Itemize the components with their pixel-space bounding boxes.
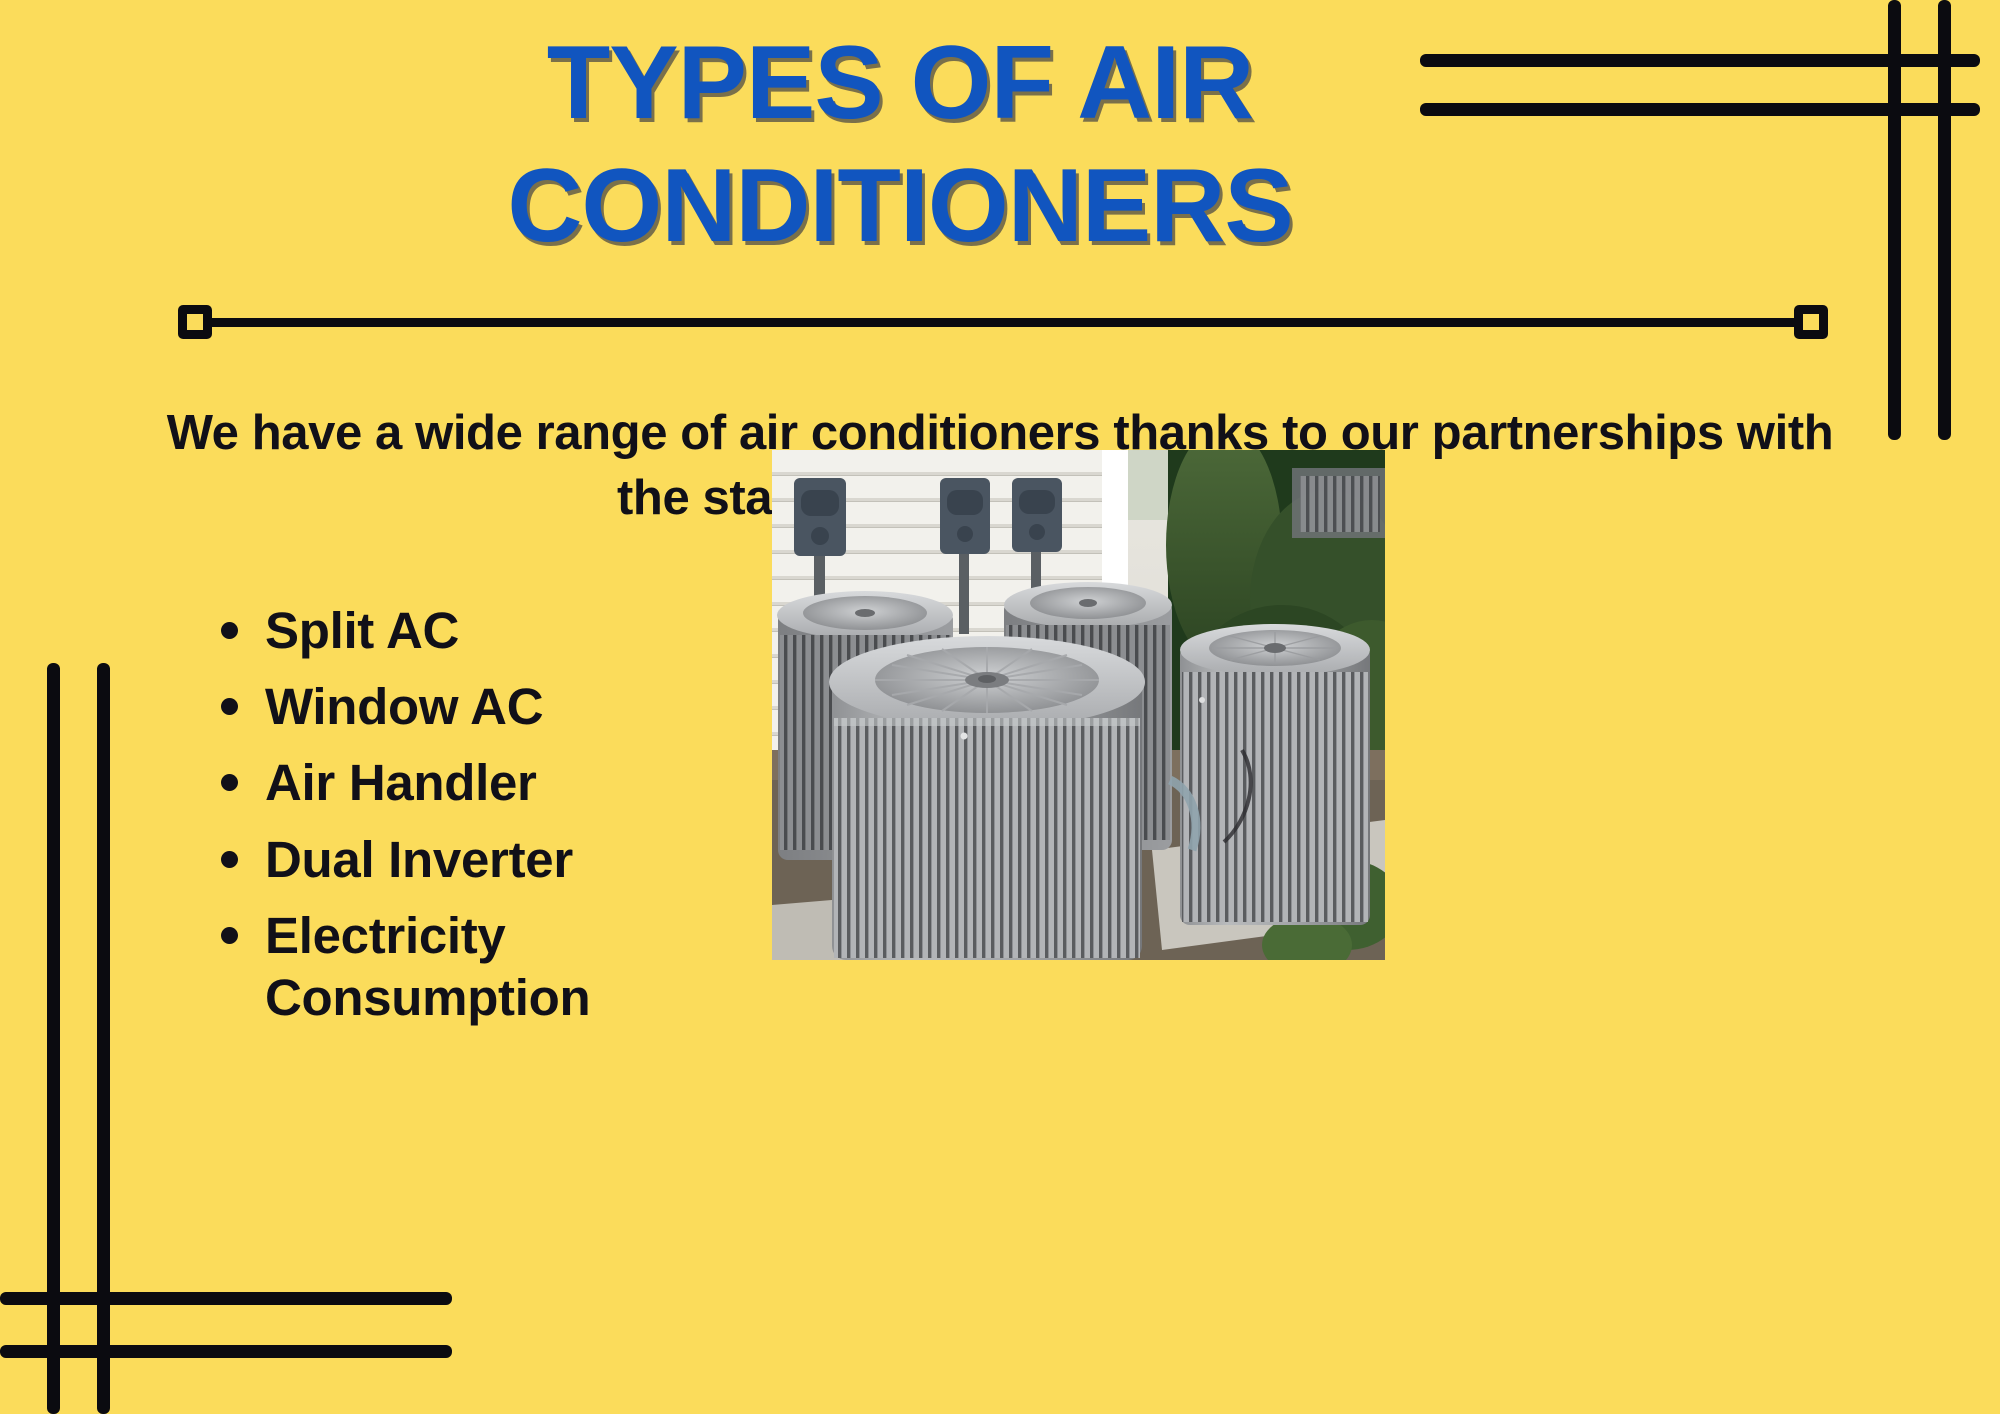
decor-line-h-bottom-left-2 [0, 1345, 452, 1358]
divider-bar [206, 318, 1800, 327]
page-title: TYPES OF AIR CONDITIONERS [300, 22, 1500, 267]
ac-units-photo [772, 450, 1385, 960]
decor-line-v-top-right-1 [1888, 0, 1901, 440]
list-item: Split AC [205, 600, 725, 662]
divider-cap-right-icon [1794, 305, 1828, 339]
poster-canvas: TYPES OF AIR CONDITIONERS We have a wide… [0, 0, 2000, 1414]
list-item: Electricity Consumption [205, 905, 725, 1029]
divider-cap-left-icon [178, 305, 212, 339]
ac-units-illustration [772, 450, 1385, 960]
ac-types-list: Split AC Window AC Air Handler Dual Inve… [205, 600, 725, 1043]
decor-line-v-top-right-2 [1938, 0, 1951, 440]
list-item: Dual Inverter [205, 829, 725, 891]
list-item: Air Handler [205, 752, 725, 814]
divider [178, 305, 1828, 339]
list-item: Window AC [205, 676, 725, 738]
decor-line-h-bottom-left-1 [0, 1292, 452, 1305]
